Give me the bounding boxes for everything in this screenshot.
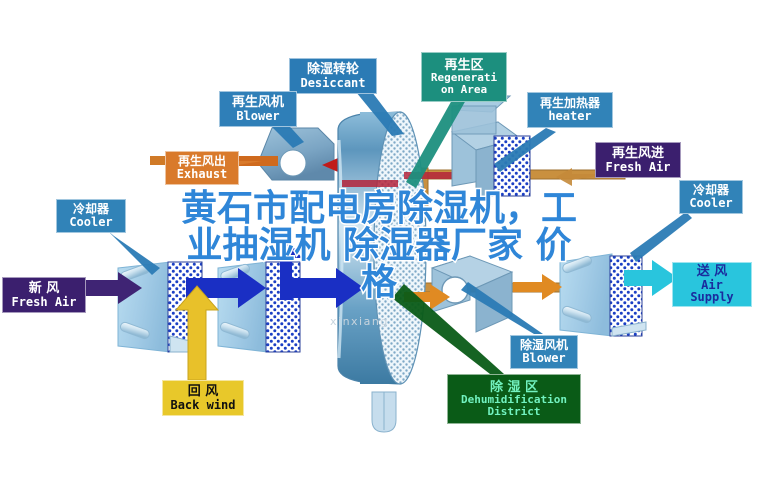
label-cn-text: 再生风进 [612,147,664,161]
svg-text:xinxiang: xinxiang [330,315,389,328]
label-dehumid-district: 除 湿 区Dehumidification District [447,374,581,424]
label-en-text: Desiccant [300,77,365,90]
overlay-headline: 黄石市配电房除湿机，工 业抽湿机 除湿器厂家 价 格 [128,190,630,301]
label-en-text: Blower [522,352,565,365]
label-cn-text: 送 风 [697,265,728,279]
label-dehumid-blower: 除湿风机Blower [510,335,578,369]
label-en-text: Exhaust [177,168,228,181]
label-back-wind: 回 风Back wind [162,380,244,416]
label-regen-fresh-air: 再生风进Fresh Air [595,142,681,178]
diagram-canvas: xinxiang xinxiang 除湿转轮Desiccant 再生风机Blow… [0,0,757,488]
label-en-text: Cooler [689,197,732,210]
label-en-text: Fresh Air [605,161,670,174]
label-cooler-right: 冷却器Cooler [679,180,743,214]
headline-line-2: 业抽湿机 除湿器厂家 价 [128,227,630,264]
label-en-text: Back wind [170,399,235,412]
label-en-text: Regenerati on Area [426,72,502,95]
label-en-text: Fresh Air [11,296,76,309]
label-fresh-air-in: 新 风Fresh Air [2,277,86,313]
label-regen-heater: 再生加热器heater [527,92,613,128]
label-en-text: Blower [236,110,279,123]
label-en-text: heater [548,110,591,123]
label-cn-text: 回 风 [188,385,219,399]
label-cn-text: 新 风 [29,282,60,296]
label-en-text: Air Supply [677,279,747,304]
headline-line-1: 黄石市配电房除湿机，工 [128,190,630,227]
label-cn-text: 除 湿 区 [490,381,538,395]
label-en-text: Dehumidification District [452,394,576,417]
label-cn-text: 再生区 [444,59,483,73]
label-cn-text: 再生风机 [232,96,284,110]
headline-line-3: 格 [128,264,630,301]
label-en-text: Cooler [69,216,112,229]
label-regen-area: 再生区Regenerati on Area [421,52,507,102]
label-cn-text: 除湿转轮 [307,63,359,77]
label-air-supply: 送 风Air Supply [672,262,752,307]
label-exhaust: 再生风出Exhaust [165,151,239,185]
label-regen-blower: 再生风机Blower [219,91,297,127]
label-cooler-left: 冷却器Cooler [56,199,126,233]
label-desiccant-wheel: 除湿转轮Desiccant [289,58,377,94]
